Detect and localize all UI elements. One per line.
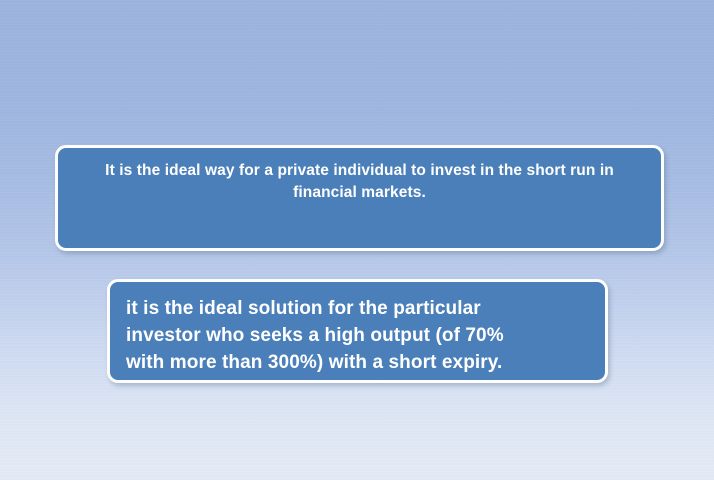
callout-two-line-one: it is the ideal solution for the particu…: [126, 295, 589, 322]
callout-one-line-two-tail: .: [421, 184, 425, 201]
callout-two-line-three: with more than 300%) with a short expiry…: [126, 349, 589, 376]
callout-two-line-two: investor who seeks a high output (of 70%: [126, 322, 589, 349]
callout-one-line-one: It is the ideal way for a private indivi…: [72, 160, 647, 182]
callout-one-emphasis: financial markets: [293, 184, 421, 201]
callout-box-primary: It is the ideal way for a private indivi…: [55, 145, 664, 251]
callout-box-secondary: it is the ideal solution for the particu…: [107, 279, 608, 383]
slide-canvas: It is the ideal way for a private indivi…: [0, 0, 714, 480]
callout-one-line-two: financial markets.: [72, 182, 647, 204]
